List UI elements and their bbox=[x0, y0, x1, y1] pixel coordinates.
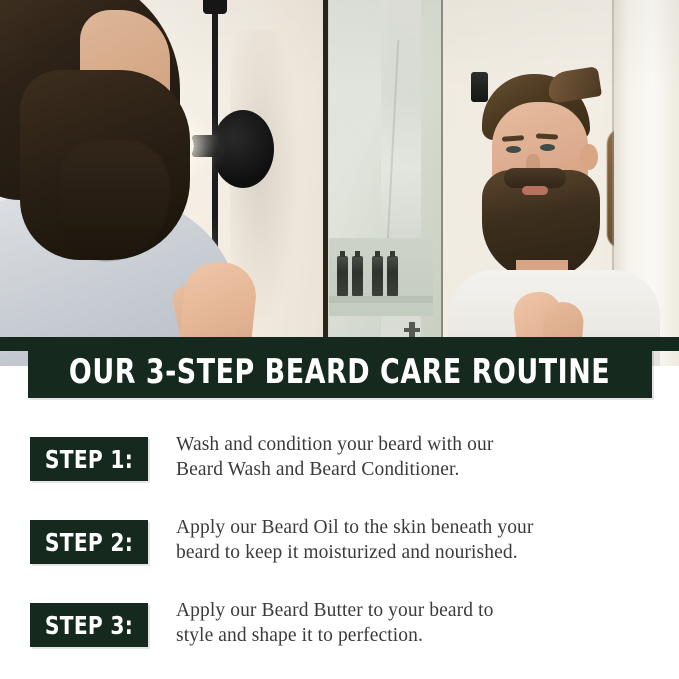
step-item: STEP 3: Apply our Beard Butter to your b… bbox=[0, 590, 679, 673]
step-description-1: Wash and condition your beard with our B… bbox=[176, 432, 646, 482]
step-badge-3: STEP 3: bbox=[30, 603, 148, 647]
step-text-line: Apply our Beard Butter to your beard to bbox=[176, 598, 646, 623]
step-badge-label: STEP 1: bbox=[45, 445, 133, 474]
step-description-3: Apply our Beard Butter to your beard to … bbox=[176, 598, 646, 648]
step-badge-2: STEP 2: bbox=[30, 520, 148, 564]
step-text-line: style and shape it to perfection. bbox=[176, 623, 646, 648]
hero-photo: Actions bbox=[0, 0, 679, 366]
step-description-2: Apply our Beard Oil to the skin beneath … bbox=[176, 515, 646, 565]
step-item: STEP 2: Apply our Beard Oil to the skin … bbox=[0, 507, 679, 590]
step-badge-label: STEP 3: bbox=[45, 611, 133, 640]
step-badge-label: STEP 2: bbox=[45, 528, 133, 557]
step-text-line: Beard Wash and Beard Conditioner. bbox=[176, 457, 646, 482]
step-text-line: beard to keep it moisturized and nourish… bbox=[176, 540, 646, 565]
step-item: STEP 1: Wash and condition your beard wi… bbox=[0, 424, 679, 507]
step-text-line: Wash and condition your beard with our bbox=[176, 432, 646, 457]
steps-list: STEP 1: Wash and condition your beard wi… bbox=[0, 424, 679, 673]
poster-root: Actions OUR 3-STEP BEARD CAR bbox=[0, 0, 679, 679]
headline-text: OUR 3-STEP BEARD CARE ROUTINE bbox=[69, 352, 610, 392]
step-text-line: Apply our Beard Oil to the skin beneath … bbox=[176, 515, 646, 540]
step-badge-1: STEP 1: bbox=[30, 437, 148, 481]
headline-banner: OUR 3-STEP BEARD CARE ROUTINE bbox=[28, 345, 652, 398]
photo-color-grade bbox=[0, 0, 679, 366]
